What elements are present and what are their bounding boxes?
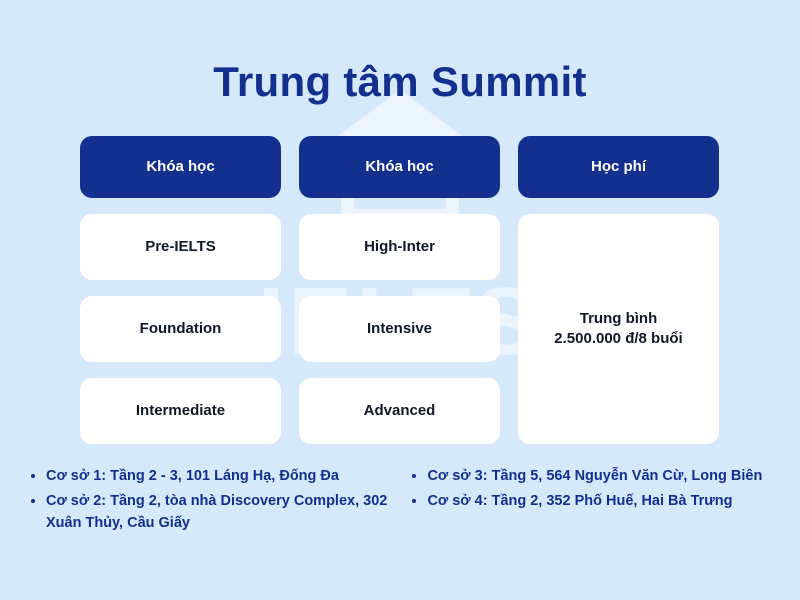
- table-cell: Intensive: [299, 296, 500, 362]
- list-item: Cơ sở 2: Tầng 2, tòa nhà Discovery Compl…: [46, 491, 407, 535]
- courses-table: Khóa học Pre-IELTS Foundation Intermedia…: [80, 136, 720, 444]
- locations-left-column: Cơ sở 1: Tầng 2 - 3, 101 Láng Hạ, Đống Đ…: [26, 466, 407, 537]
- tuition-line-2: 2.500.000 đ/8 buổi: [554, 329, 682, 349]
- table-cell: Advanced: [299, 378, 500, 444]
- column-header-courses-2: Khóa học: [299, 136, 500, 198]
- table-column-courses-1: Khóa học Pre-IELTS Foundation Intermedia…: [80, 136, 281, 444]
- table-cell: Pre-IELTS: [80, 214, 281, 280]
- list-item: Cơ sở 4: Tầng 2, 352 Phố Huế, Hai Bà Trư…: [427, 491, 774, 513]
- table-cell: Intermediate: [80, 378, 281, 444]
- column-header-courses-1: Khóa học: [80, 136, 281, 198]
- tuition-line-1: Trung bình: [554, 309, 682, 329]
- table-column-courses-2: Khóa học High-Inter Intensive Advanced: [299, 136, 500, 444]
- list-item: Cơ sở 1: Tầng 2 - 3, 101 Láng Hạ, Đống Đ…: [46, 466, 407, 488]
- poster-page: IELTS Trung tâm Summit Khóa học Pre-IELT…: [0, 0, 800, 600]
- table-column-tuition: Học phí Trung bình 2.500.000 đ/8 buổi: [518, 136, 719, 444]
- table-cell: Foundation: [80, 296, 281, 362]
- column-header-tuition: Học phí: [518, 136, 719, 198]
- locations-footer: Cơ sở 1: Tầng 2 - 3, 101 Láng Hạ, Đống Đ…: [0, 466, 800, 537]
- page-title: Trung tâm Summit: [0, 0, 800, 106]
- locations-right-column: Cơ sở 3: Tầng 5, 564 Nguyễn Văn Cừ, Long…: [407, 466, 774, 537]
- list-item: Cơ sở 3: Tầng 5, 564 Nguyễn Văn Cừ, Long…: [427, 466, 774, 488]
- table-cell: High-Inter: [299, 214, 500, 280]
- tuition-cell: Trung bình 2.500.000 đ/8 buổi: [518, 214, 719, 444]
